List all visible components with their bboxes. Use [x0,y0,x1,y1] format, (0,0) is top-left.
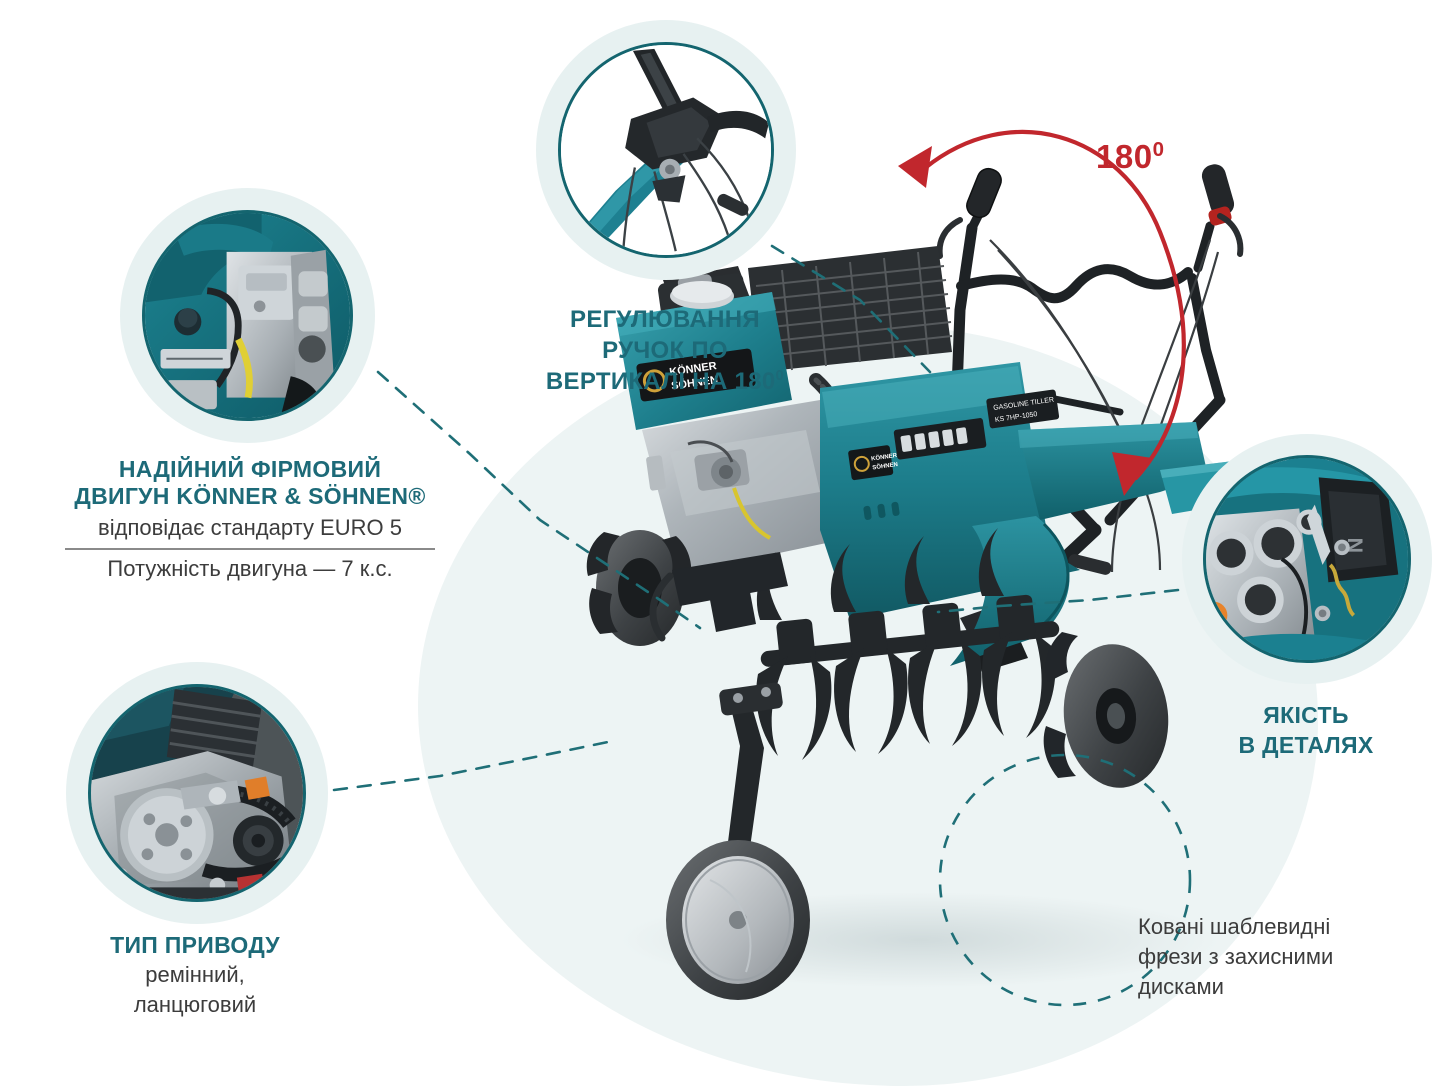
handles-heading-line2: РУЧОК ПО [500,335,830,366]
engine-divider [65,548,435,550]
gearbox-closeup-photo: N [1203,455,1411,663]
engine-heading-line1: НАДІЙНИЙ ФІРМОВИЙ [20,456,480,483]
engine-closeup-photo [142,210,353,421]
drive-sub-line1: ремінний, [30,960,360,990]
callout-handles[interactable] [536,20,796,280]
callout-quality-text: ЯКІСТЬ В ДЕТАЛЯХ [1166,700,1440,760]
engine-sub-line1: відповідає стандарту EURO 5 [20,513,480,543]
drive-sub-line2: ланцюговий [30,990,360,1020]
cutters-line1: Ковані шаблевидні [1138,912,1438,942]
engine-heading-line2: ДВИГУН KÖNNER & SÖHNEN® [20,483,480,510]
belt-drive-closeup-photo [88,684,306,902]
callout-drive[interactable] [66,662,328,924]
cutters-line2: фрези з захисними [1138,942,1438,972]
engine-sub-line2: Потужність двигуна — 7 к.с. [20,554,480,584]
callout-quality[interactable]: N [1182,434,1432,684]
drive-heading-line1: ТИП ПРИВОДУ [30,930,360,960]
callout-engine-text: НАДІЙНИЙ ФІРМОВИЙ ДВИГУН KÖNNER & SÖHNEN… [20,456,480,584]
quality-heading-line1: ЯКІСТЬ [1166,700,1440,730]
callout-drive-text: ТИП ПРИВОДУ ремінний, ланцюговий [30,930,360,1020]
callout-handles-text: РЕГУЛЮВАННЯ РУЧОК ПО ВЕРТИКАЛІ НА 1800 [500,304,830,397]
rotation-degree-label: 1800 [1096,138,1164,176]
handles-heading-line3: ВЕРТИКАЛІ НА 1800 [500,366,830,397]
handles-heading-line1: РЕГУЛЮВАННЯ [500,304,830,335]
quality-heading-line2: В ДЕТАЛЯХ [1166,730,1440,760]
callout-engine[interactable] [120,188,375,443]
cutters-line3: дисками [1138,972,1438,1002]
handle-clamp-closeup-photo [558,42,774,258]
callout-cutters-text: Ковані шаблевидні фрези з захисними диск… [1138,912,1438,1002]
infographic-canvas: KÖNNER SÖHNEN [0,0,1440,1080]
